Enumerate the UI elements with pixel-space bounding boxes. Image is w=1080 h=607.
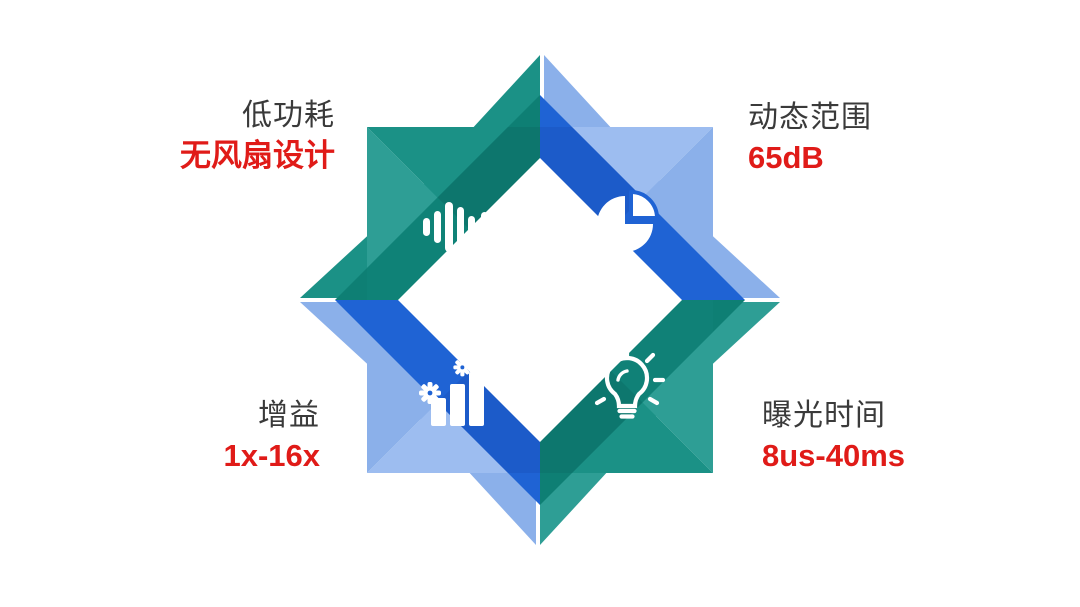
- infographic-root: 低功耗 无风扇设计 动态范围 65dB 增益 1x-16x 曝光时间 8us-4…: [0, 0, 1080, 607]
- label-title: 增益: [20, 398, 320, 433]
- label-title: 低功耗: [35, 98, 335, 133]
- label-title: 动态范围: [748, 100, 1048, 135]
- label-value: 8us-40ms: [762, 438, 1062, 475]
- label-value: 65dB: [748, 140, 1048, 177]
- label-gain: 增益 1x-16x: [20, 398, 320, 475]
- label-exposure-time: 曝光时间 8us-40ms: [762, 398, 1062, 475]
- label-value: 1x-16x: [20, 438, 320, 475]
- label-low-power: 低功耗 无风扇设计: [35, 98, 335, 175]
- label-title: 曝光时间: [762, 398, 1062, 433]
- star-diagram: [295, 50, 785, 550]
- label-dynamic-range: 动态范围 65dB: [748, 100, 1048, 177]
- label-value: 无风扇设计: [35, 138, 335, 175]
